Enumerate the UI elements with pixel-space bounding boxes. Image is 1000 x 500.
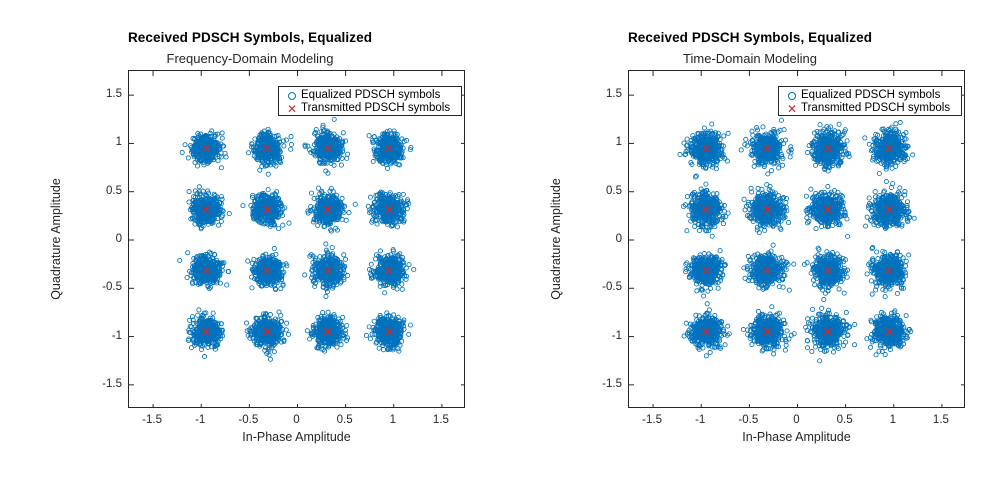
y-tick-label: 1.5 — [606, 88, 622, 100]
x-tick-label: 1.5 — [933, 414, 949, 426]
legend-item-transmitted[interactable]: ✕ Transmitted PDSCH symbols — [783, 102, 957, 115]
y-tick-label: -1.5 — [102, 378, 122, 390]
y-tick-label: 1.5 — [106, 88, 122, 100]
equalized-symbols-layer — [178, 117, 416, 361]
x-axis-label: In-Phase Amplitude — [628, 430, 965, 444]
y-tick-label: 0.5 — [106, 185, 122, 197]
x-tick-label: -1.5 — [142, 414, 162, 426]
y-axis-label: Quadrature Amplitude — [49, 178, 63, 300]
x-marker-icon: ✕ — [283, 101, 301, 117]
plot-title: Received PDSCH Symbols, Equalized — [500, 30, 1000, 45]
legend-label: Transmitted PDSCH symbols — [301, 103, 450, 115]
figure-canvas: Received PDSCH Symbols, Equalized Freque… — [0, 0, 1000, 500]
x-marker-icon: ✕ — [783, 101, 801, 117]
x-tick-label: -1.5 — [642, 414, 662, 426]
legend-item-equalized[interactable]: Equalized PDSCH symbols — [783, 89, 957, 102]
axes-panel-frequency-domain: Received PDSCH Symbols, Equalized Freque… — [0, 0, 500, 500]
legend-label: Equalized PDSCH symbols — [801, 90, 940, 102]
y-tick-label: -0.5 — [102, 281, 122, 293]
transmitted-symbols-layer — [203, 145, 393, 335]
x-tick-label: -1 — [695, 414, 705, 426]
x-tick-label: 1 — [890, 414, 896, 426]
legend-item-transmitted[interactable]: ✕ Transmitted PDSCH symbols — [283, 102, 457, 115]
plot-subtitle: Frequency-Domain Modeling — [0, 51, 500, 66]
scatter-canvas — [629, 71, 965, 408]
y-tick-label: 0 — [116, 233, 122, 245]
y-axis-label: Quadrature Amplitude — [549, 178, 563, 300]
scatter-canvas — [129, 71, 465, 408]
x-axis-label: In-Phase Amplitude — [128, 430, 465, 444]
y-tick-label: 1 — [116, 136, 122, 148]
y-tick-label: 1 — [616, 136, 622, 148]
x-tick-label: -1 — [195, 414, 205, 426]
plot-title: Received PDSCH Symbols, Equalized — [0, 30, 500, 45]
y-tick-label: -1 — [612, 330, 622, 342]
y-tick-label: 0 — [616, 233, 622, 245]
y-tick-label: 0.5 — [606, 185, 622, 197]
legend[interactable]: Equalized PDSCH symbols ✕ Transmitted PD… — [778, 86, 962, 116]
x-tick-label: -0.5 — [738, 414, 758, 426]
y-tick-label: -0.5 — [602, 281, 622, 293]
plot-subtitle: Time-Domain Modeling — [500, 51, 1000, 66]
x-tick-label: 0 — [793, 414, 799, 426]
plot-area[interactable]: Equalized PDSCH symbols ✕ Transmitted PD… — [628, 70, 965, 408]
legend-item-equalized[interactable]: Equalized PDSCH symbols — [283, 89, 457, 102]
equalized-symbols-layer — [678, 118, 916, 363]
axes-panel-time-domain: Received PDSCH Symbols, Equalized Time-D… — [500, 0, 1000, 500]
legend-label: Equalized PDSCH symbols — [301, 90, 440, 102]
x-tick-label: 1.5 — [433, 414, 449, 426]
x-tick-label: 0.5 — [337, 414, 353, 426]
x-tick-label: 0.5 — [837, 414, 853, 426]
y-tick-label: -1 — [112, 330, 122, 342]
x-tick-label: 1 — [390, 414, 396, 426]
plot-area[interactable]: Equalized PDSCH symbols ✕ Transmitted PD… — [128, 70, 465, 408]
legend[interactable]: Equalized PDSCH symbols ✕ Transmitted PD… — [278, 86, 462, 116]
x-tick-label: -0.5 — [238, 414, 258, 426]
y-tick-label: -1.5 — [602, 378, 622, 390]
transmitted-symbols-layer — [703, 145, 893, 335]
x-tick-label: 0 — [293, 414, 299, 426]
legend-label: Transmitted PDSCH symbols — [801, 103, 950, 115]
